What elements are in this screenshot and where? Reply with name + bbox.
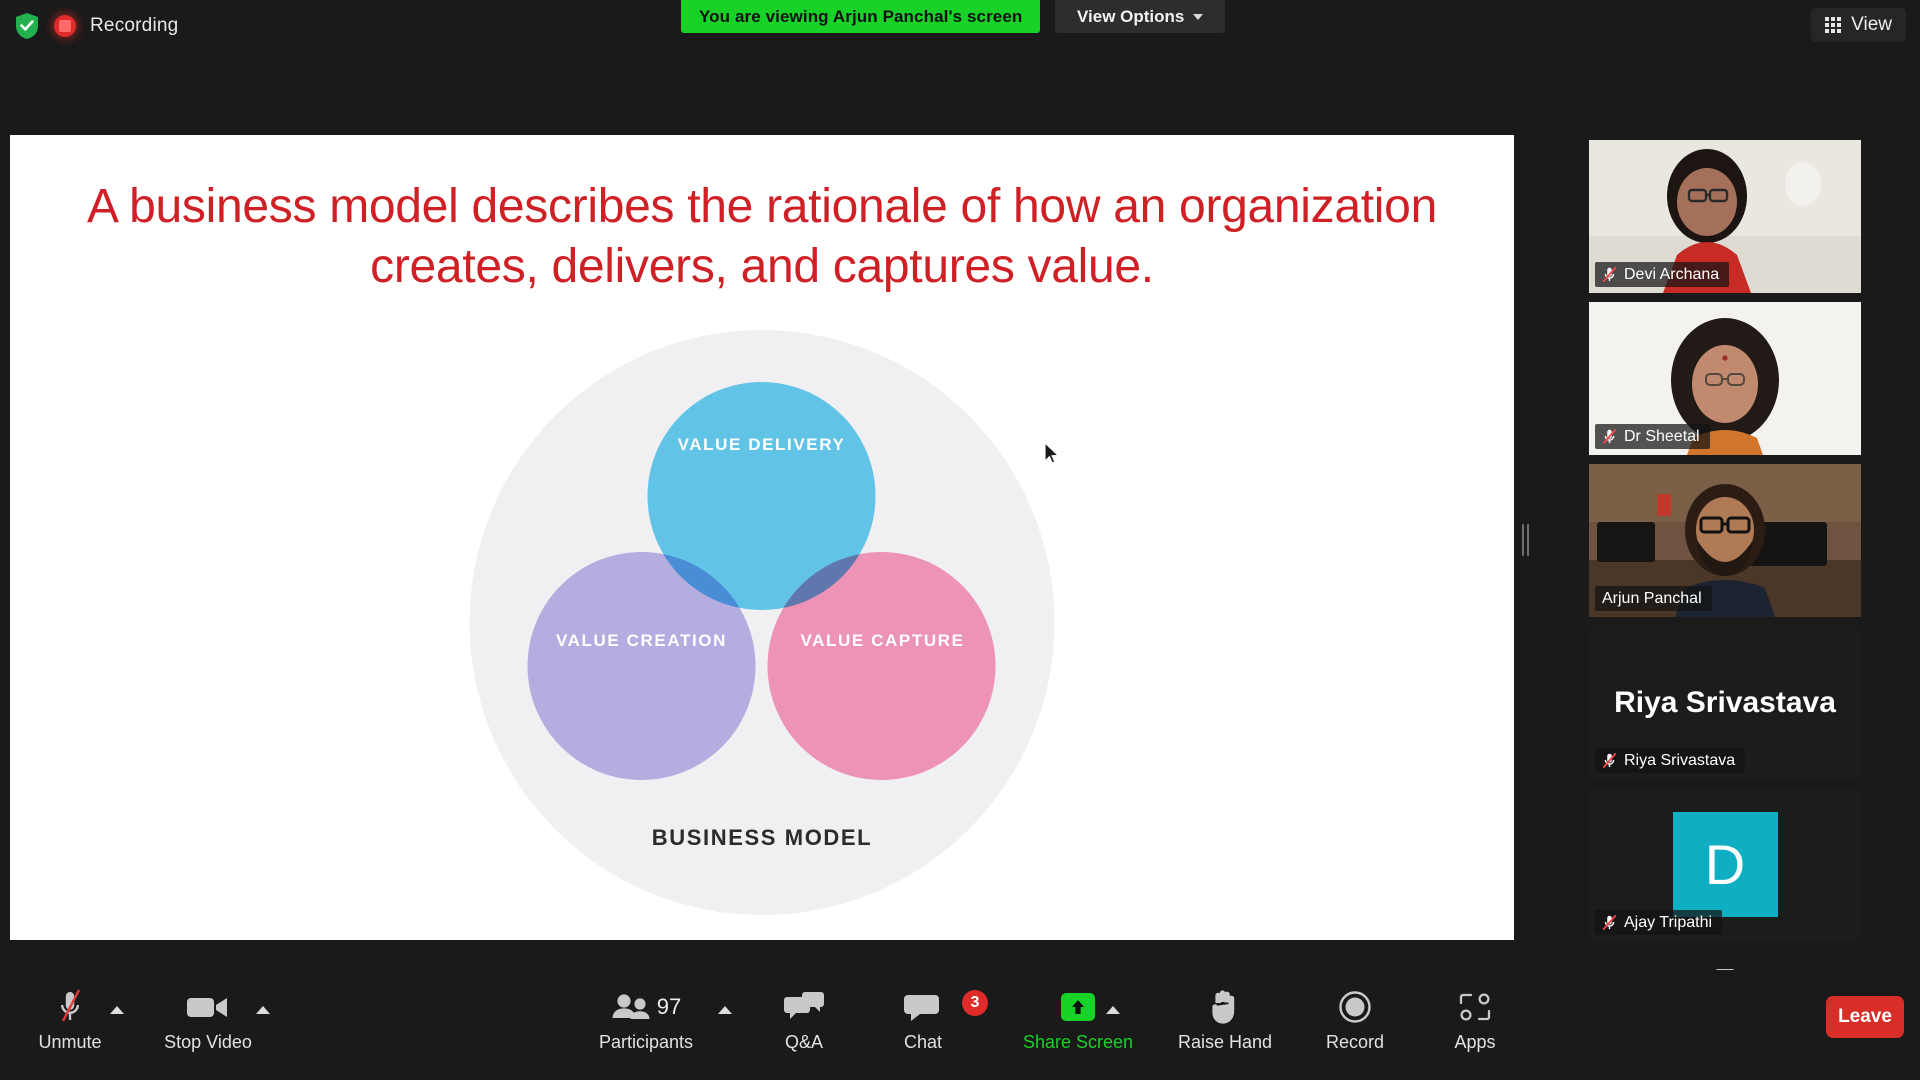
unmute-button[interactable]: Unmute bbox=[22, 984, 118, 1053]
microphone-muted-icon bbox=[1602, 752, 1617, 769]
apps-label: Apps bbox=[1454, 1032, 1495, 1053]
question-answer-icon bbox=[783, 984, 825, 1030]
mouse-pointer-icon bbox=[1044, 442, 1060, 466]
grid-view-icon bbox=[1825, 17, 1841, 33]
participant-tile-dr-sheetal[interactable]: Dr Sheetal bbox=[1589, 302, 1861, 455]
venn-diagram: VALUE DELIVERY VALUE CREATION VALUE CAPT… bbox=[470, 330, 1055, 925]
share-screen-button[interactable]: Share Screen bbox=[1008, 984, 1148, 1053]
participants-button[interactable]: 97 Participants bbox=[598, 984, 694, 1053]
chat-bubble-icon: 3 bbox=[904, 984, 942, 1030]
avatar: D bbox=[1673, 812, 1778, 917]
leave-label: Leave bbox=[1838, 1006, 1892, 1028]
microphone-muted-icon bbox=[55, 984, 85, 1030]
share-screen-label: Share Screen bbox=[1023, 1032, 1133, 1053]
drag-handle-icon[interactable] bbox=[1521, 523, 1529, 557]
apps-button[interactable]: Apps bbox=[1395, 984, 1555, 1053]
microphone-muted-icon bbox=[1602, 914, 1617, 931]
participant-name: Arjun Panchal bbox=[1602, 590, 1702, 608]
video-settings-chevron-up-icon[interactable] bbox=[256, 1006, 270, 1014]
participants-count: 97 bbox=[657, 994, 681, 1020]
slide-title: A business model describes the rationale… bbox=[10, 177, 1514, 297]
apps-icon bbox=[1458, 984, 1492, 1030]
people-icon: 97 bbox=[611, 984, 681, 1030]
record-label: Record bbox=[1326, 1032, 1384, 1053]
chevron-down-icon bbox=[1193, 14, 1203, 20]
participant-name-bar: Riya Srivastava bbox=[1595, 748, 1745, 773]
raise-hand-label: Raise Hand bbox=[1178, 1032, 1272, 1053]
venn-label-value-delivery: VALUE DELIVERY bbox=[648, 434, 876, 457]
qa-button[interactable]: Q&A bbox=[756, 984, 852, 1053]
participants-chevron-up-icon[interactable] bbox=[718, 1006, 732, 1014]
share-screen-up-arrow-icon bbox=[1061, 984, 1095, 1030]
top-bar: Recording You are viewing Arjun Panchal'… bbox=[0, 0, 1920, 58]
zoom-meeting-window: Recording You are viewing Arjun Panchal'… bbox=[0, 0, 1920, 1080]
screen-share-banner: You are viewing Arjun Panchal's screen bbox=[681, 0, 1040, 33]
participant-tile-ajay-tripathi[interactable]: D Ajay Tripathi bbox=[1589, 788, 1861, 941]
view-options-button[interactable]: View Options bbox=[1055, 0, 1225, 33]
participant-name: Ajay Tripathi bbox=[1624, 914, 1712, 932]
microphone-muted-icon bbox=[1602, 428, 1617, 445]
recording-status-group: Recording bbox=[14, 12, 178, 40]
participant-name: Riya Srivastava bbox=[1624, 752, 1735, 770]
unmute-label: Unmute bbox=[38, 1032, 101, 1053]
avatar-letter: D bbox=[1705, 832, 1745, 897]
participant-placeholder-name: Riya Srivastava bbox=[1614, 686, 1836, 720]
chat-button[interactable]: 3 Chat bbox=[875, 984, 971, 1053]
venn-label-value-capture: VALUE CAPTURE bbox=[766, 630, 1000, 653]
participants-label: Participants bbox=[599, 1032, 693, 1053]
view-button-label: View bbox=[1851, 14, 1892, 36]
participant-name-bar: Arjun Panchal bbox=[1595, 586, 1712, 611]
participant-name-bar: Devi Archana bbox=[1595, 262, 1729, 287]
venn-circle-value-capture bbox=[768, 552, 996, 780]
participant-tile-arjun-panchal[interactable]: Arjun Panchal bbox=[1589, 464, 1861, 617]
chat-label: Chat bbox=[904, 1032, 942, 1053]
participant-name: Devi Archana bbox=[1624, 266, 1719, 284]
view-options-label: View Options bbox=[1077, 7, 1184, 27]
venn-label-value-creation: VALUE CREATION bbox=[522, 630, 762, 653]
meeting-toolbar: Unmute Stop Video 97 bbox=[0, 970, 1920, 1080]
participants-filmstrip: Devi Archana D bbox=[1589, 140, 1861, 997]
leave-button[interactable]: Leave bbox=[1826, 996, 1904, 1038]
qa-label: Q&A bbox=[785, 1032, 823, 1053]
participant-tile-devi-archana[interactable]: Devi Archana bbox=[1589, 140, 1861, 293]
participant-name: Dr Sheetal bbox=[1624, 428, 1700, 446]
venn-circle-value-creation bbox=[528, 552, 756, 780]
shared-screen-content[interactable]: A business model describes the rationale… bbox=[10, 135, 1514, 940]
recording-label: Recording bbox=[90, 15, 178, 37]
chat-unread-badge: 3 bbox=[962, 990, 988, 1016]
participant-tile-riya-srivastava[interactable]: Riya Srivastava Riya Srivastava bbox=[1589, 626, 1861, 779]
view-layout-button[interactable]: View bbox=[1811, 8, 1906, 42]
encryption-shield-icon[interactable] bbox=[14, 12, 40, 40]
stop-video-label: Stop Video bbox=[164, 1032, 252, 1053]
microphone-muted-icon bbox=[1602, 266, 1617, 283]
record-circle-icon bbox=[1338, 984, 1372, 1030]
share-settings-chevron-up-icon[interactable] bbox=[1106, 1006, 1120, 1014]
audio-settings-chevron-up-icon[interactable] bbox=[110, 1006, 124, 1014]
venn-caption: BUSINESS MODEL bbox=[470, 825, 1055, 851]
hand-icon bbox=[1208, 984, 1242, 1030]
stop-video-button[interactable]: Stop Video bbox=[160, 984, 256, 1053]
participant-name-bar: Ajay Tripathi bbox=[1595, 910, 1722, 935]
camera-icon bbox=[185, 984, 231, 1030]
participant-name-bar: Dr Sheetal bbox=[1595, 424, 1710, 449]
recording-indicator-icon[interactable] bbox=[54, 15, 76, 37]
screen-share-banner-text: You are viewing Arjun Panchal's screen bbox=[699, 7, 1022, 27]
